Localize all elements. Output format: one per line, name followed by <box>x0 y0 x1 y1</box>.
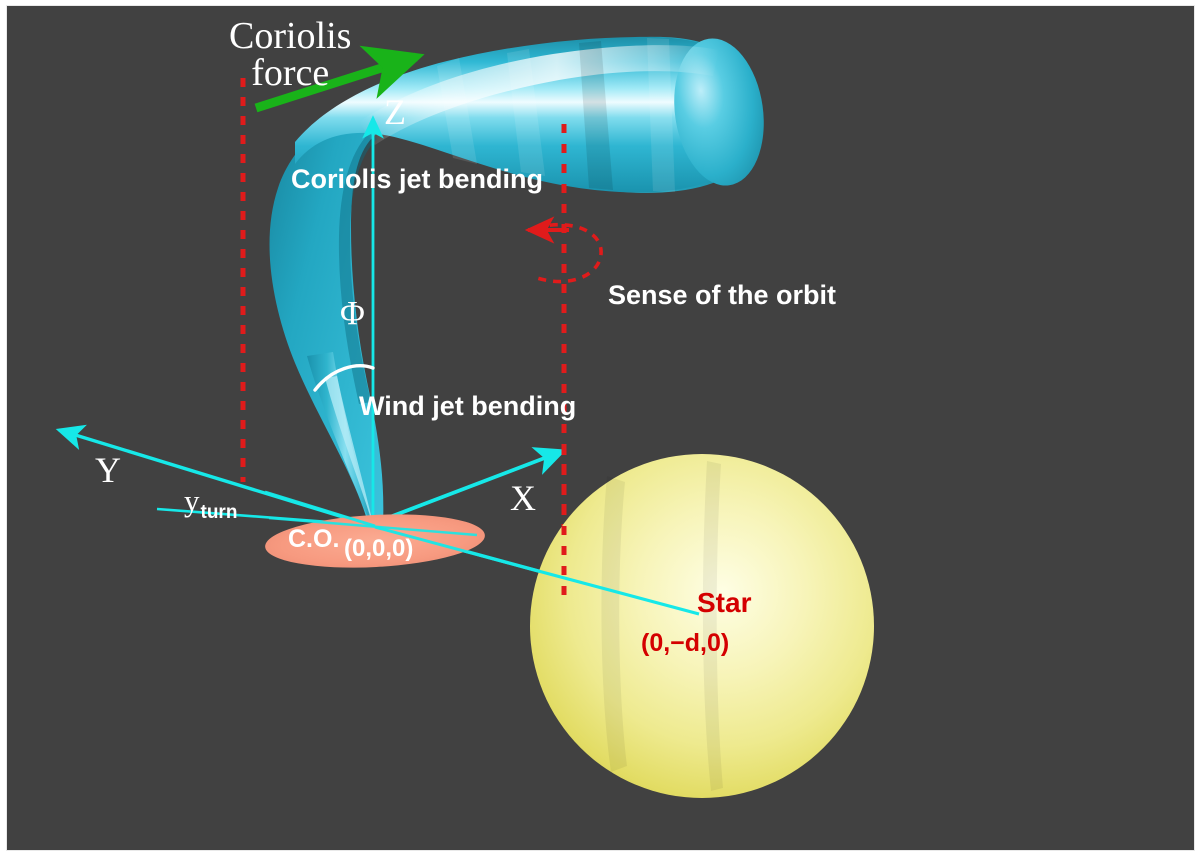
scene-vector-graphics <box>7 6 1195 851</box>
sense-of-orbit-rotation-arrow <box>528 225 601 282</box>
star-sphere <box>530 454 874 798</box>
x-axis-line <box>369 451 563 525</box>
diagram-canvas: Coriolis force Z X Y Φ Coriolis jet bend… <box>6 5 1195 851</box>
figure-stage: Coriolis force Z X Y Φ Coriolis jet bend… <box>0 0 1200 858</box>
